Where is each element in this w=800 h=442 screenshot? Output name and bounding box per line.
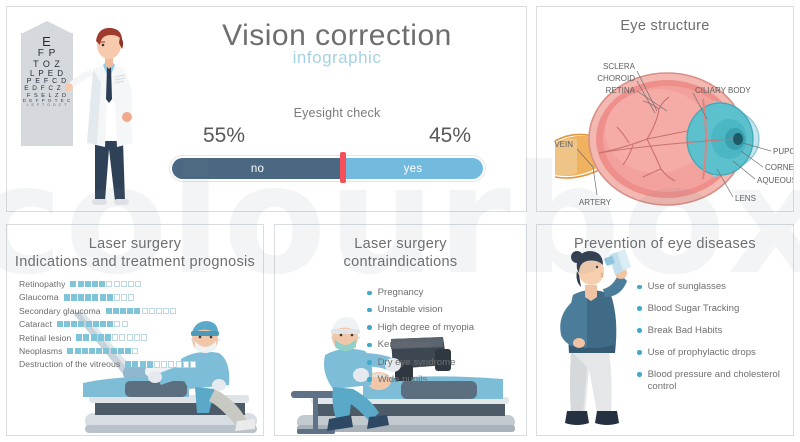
bullet-dot-icon (637, 328, 642, 333)
bullet-dot-icon (367, 377, 372, 382)
label-vein: VEIN (554, 140, 573, 149)
bullet-dot-icon (637, 372, 642, 377)
meter-pip (78, 281, 84, 288)
bullet-dot-icon (637, 350, 642, 355)
meter-pip (111, 348, 117, 355)
doctor-illustration (65, 23, 157, 212)
meter-pip (156, 308, 162, 315)
indication-meter (106, 308, 177, 315)
prevention-list: Use of sunglasses Blood Sugar Tracking B… (637, 281, 787, 403)
meter-pip (120, 308, 126, 315)
indication-label: Destruction of the vitreous (19, 359, 120, 369)
page-subtitle: infographic (157, 48, 517, 68)
list-item: Keratoconus (367, 339, 517, 351)
list-item-label: Dry eye syndrome (378, 357, 456, 369)
indication-label: Retinopathy (19, 279, 65, 289)
indication-row: Retinopathy (19, 279, 257, 289)
list-item-label: Blood Sugar Tracking (648, 303, 740, 315)
meter-pip (100, 321, 106, 328)
indication-meter (125, 361, 196, 368)
list-item: Use of prophylactic drops (637, 347, 787, 359)
meter-pip (64, 294, 70, 301)
bar-segment-yes: yes (343, 158, 483, 179)
meter-pip (127, 308, 133, 315)
meter-pip (142, 308, 148, 315)
list-item: Wide pupils (367, 374, 517, 386)
meter-pip (161, 361, 167, 368)
meter-pip (78, 321, 84, 328)
meter-pip (134, 334, 140, 341)
list-item-label: High degree of myopia (378, 322, 475, 334)
meter-pip (70, 281, 76, 288)
meter-pip (114, 281, 120, 288)
woman-drinking-water-illustration (543, 241, 647, 436)
bullet-dot-icon (637, 285, 642, 290)
list-item: Blood Sugar Tracking (637, 303, 787, 315)
meter-pip (78, 294, 84, 301)
meter-pip (75, 348, 81, 355)
percent-no: 55% (203, 124, 245, 148)
laser-indications-title-line1: Laser surgery (7, 235, 263, 253)
indication-label: Secondary glaucoma (19, 306, 101, 316)
hero-text-block: Vision correction infographic Eyesight c… (157, 19, 517, 148)
label-artery: ARTERY (579, 198, 612, 207)
meter-pip (128, 294, 134, 301)
meter-pip (64, 321, 70, 328)
label-lens: LENS (735, 194, 756, 203)
panel-laser-contraindications: Laser surgery contraindications (274, 224, 527, 436)
indication-row: Retinal lesion (19, 333, 257, 343)
list-item-label: Keratoconus (378, 339, 432, 351)
indication-row: Neoplasms (19, 346, 257, 356)
bullet-dot-icon (367, 308, 372, 313)
contraindications-title-line1: Laser surgery (275, 235, 526, 253)
percent-yes: 45% (429, 124, 471, 148)
eye-anatomy-diagram: SCLERA CHOROID RETINA CILIARY BODY VEIN … (537, 27, 794, 212)
meter-pip (113, 308, 119, 315)
meter-pip (98, 334, 104, 341)
indication-meter (64, 294, 135, 301)
list-item-label: Use of sunglasses (648, 281, 726, 293)
meter-pip (112, 334, 118, 341)
percentage-row: 55% 45% (157, 124, 517, 148)
meter-pip (154, 361, 160, 368)
label-retina: RETINA (606, 86, 636, 95)
meter-pip (107, 321, 113, 328)
meter-pip (93, 321, 99, 328)
meter-pip (121, 281, 127, 288)
laser-indications-title-line2: Indications and treatment prognosis (7, 253, 263, 271)
eye-chart-line-1: E (42, 35, 52, 49)
list-item-label: Unstable vision (378, 304, 443, 316)
meter-pip (163, 308, 169, 315)
meter-pip (119, 334, 125, 341)
meter-pip (92, 294, 98, 301)
label-pupol: PUPOL (773, 147, 794, 156)
meter-pip (118, 348, 124, 355)
indication-row: Cataract (19, 319, 257, 329)
meter-pip (106, 308, 112, 315)
meter-pip (176, 361, 182, 368)
indication-row: Glaucoma (19, 292, 257, 302)
list-item: Pregnancy (367, 287, 517, 299)
meter-pip (96, 348, 102, 355)
meter-pip (125, 348, 131, 355)
label-choroid: CHOROID (597, 74, 635, 83)
meter-pip (147, 361, 153, 368)
meter-pip (85, 294, 91, 301)
meter-pip (82, 348, 88, 355)
indication-meter (70, 281, 141, 288)
panel-laser-indications: Laser surgery Indications and treatment … (6, 224, 264, 436)
list-item: Blood pressure and cholesterol control (637, 369, 787, 393)
meter-pip (85, 281, 91, 288)
meter-pip (83, 334, 89, 341)
contraindications-list: Pregnancy Unstable vision High degree of… (367, 287, 517, 391)
bar-divider-marker (340, 152, 346, 183)
panel-prevention: Prevention of eye diseases (536, 224, 794, 436)
meter-pip (121, 294, 127, 301)
indications-list: Retinopathy Glaucoma Secondary glaucoma … (19, 279, 257, 373)
label-aqueous: AQUEOUS (757, 176, 794, 185)
list-item: Use of sunglasses (637, 281, 787, 293)
indication-meter (67, 348, 138, 355)
meter-pip (103, 348, 109, 355)
list-item-label: Pregnancy (378, 287, 424, 299)
label-cornea: CORNEA (765, 163, 794, 172)
list-item: Break Bad Habits (637, 325, 787, 337)
meter-pip (71, 321, 77, 328)
bullet-dot-icon (367, 360, 372, 365)
meter-pip (140, 361, 146, 368)
meter-pip (190, 361, 196, 368)
label-sclera: SCLERA (603, 62, 636, 71)
indication-label: Neoplasms (19, 346, 62, 356)
bullet-dot-icon (367, 343, 372, 348)
meter-pip (134, 308, 140, 315)
list-item-label: Use of prophylactic drops (648, 347, 756, 359)
meter-pip (67, 348, 73, 355)
indication-label: Cataract (19, 319, 52, 329)
bullet-dot-icon (637, 306, 642, 311)
list-item: Unstable vision (367, 304, 517, 316)
eye-chart-line-6: E D F C Z P (24, 86, 69, 93)
indication-label: Glaucoma (19, 292, 59, 302)
panel-eye-structure: Eye structure (536, 6, 794, 212)
panel-vision-correction-hero: E F P T O Z L P E D P E F C D E D F C Z … (6, 6, 527, 212)
meter-pip (114, 294, 120, 301)
meter-pip (125, 361, 131, 368)
meter-pip (99, 281, 105, 288)
meter-pip (135, 281, 141, 288)
eye-chart-line-9: L E F T O D C T (27, 104, 68, 108)
indication-row: Secondary glaucoma (19, 306, 257, 316)
meter-pip (141, 334, 147, 341)
meter-pip (86, 321, 92, 328)
eyesight-check-label: Eyesight check (157, 106, 517, 120)
bar-segment-no: no (172, 158, 343, 179)
meter-pip (92, 281, 98, 288)
list-item: Dry eye syndrome (367, 357, 517, 369)
meter-pip (132, 361, 138, 368)
list-item-label: Break Bad Habits (648, 325, 723, 337)
meter-pip (107, 294, 113, 301)
meter-pip (127, 334, 133, 341)
meter-pip (168, 361, 174, 368)
meter-pip (105, 334, 111, 341)
eye-chart-line-4: L P E D (30, 70, 64, 79)
meter-pip (57, 321, 63, 328)
meter-pip (71, 294, 77, 301)
infographic-board: E F P T O Z L P E D P E F C D E D F C Z … (0, 0, 800, 442)
indication-meter (76, 334, 147, 341)
meter-pip (89, 348, 95, 355)
bullet-dot-icon (367, 291, 372, 296)
meter-pip (122, 321, 128, 328)
meter-pip (128, 281, 134, 288)
eyesight-result-bar[interactable]: no yes (169, 155, 486, 182)
meter-pip (114, 321, 120, 328)
list-item-label: Wide pupils (378, 374, 428, 386)
meter-pip (106, 281, 112, 288)
meter-pip (100, 294, 106, 301)
contraindications-title-line2: contraindications (275, 253, 526, 271)
meter-pip (149, 308, 155, 315)
indication-meter (57, 321, 128, 328)
meter-pip (76, 334, 82, 341)
list-item-label: Blood pressure and cholesterol control (648, 369, 787, 393)
meter-pip (183, 361, 189, 368)
indication-row: Destruction of the vitreous (19, 359, 257, 369)
meter-pip (132, 348, 138, 355)
indication-label: Retinal lesion (19, 333, 71, 343)
meter-pip (91, 334, 97, 341)
list-item: High degree of myopia (367, 322, 517, 334)
label-ciliary-body: CILIARY BODY (695, 86, 751, 95)
meter-pip (170, 308, 176, 315)
bullet-dot-icon (367, 325, 372, 330)
